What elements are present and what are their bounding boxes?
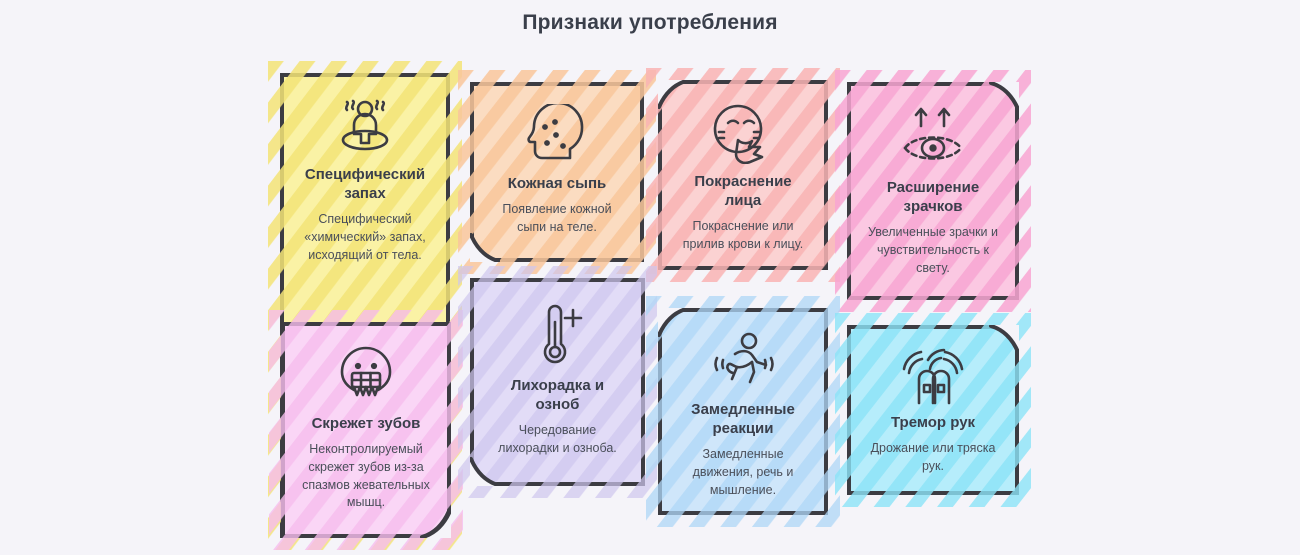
card-description: Неконтролируемый скрежет зубов из-за спа… [298,441,434,512]
running-person-icon [705,330,781,392]
card-description: Замедленные движения, речь и мышление. [675,446,811,499]
card-dilated-pupils[interactable]: Расширение зрачков Увеличенные зрачки и … [847,82,1019,300]
card-hand-tremor[interactable]: Тремор рук Дрожание или тряска рук. [847,325,1019,495]
card-facial-redness[interactable]: Покраснение лица Покраснение или прилив … [658,80,828,270]
trembling-hands-icon [900,347,966,405]
card-title: Расширение зрачков [864,178,1002,216]
card-description: Появление кожной сыпи на теле. [487,201,627,237]
card-title: Специфический запах [297,165,433,203]
card-skin-rash[interactable]: Кожная сыпь Появление кожной сыпи на тел… [470,82,644,262]
head-rash-icon [525,104,589,166]
card-title: Скрежет зубов [312,414,421,433]
card-title: Покраснение лица [675,172,811,210]
card-teeth-grinding[interactable]: Скрежет зубов Неконтролируемый скрежет з… [281,322,451,538]
flushed-face-icon [708,102,778,164]
card-description: Дрожание или тряска рук. [864,440,1002,476]
card-description: Увеличенные зрачки и чувствительность к … [864,224,1002,277]
card-title: Тремор рук [891,413,975,432]
card-description: Чередование лихорадки и озноба. [487,422,628,458]
card-description: Специфический «химический» запах, исходя… [297,211,433,264]
body-odor-icon [328,95,402,157]
card-title: Кожная сыпь [508,174,607,193]
dilated-eye-icon [899,104,967,170]
card-slowed-reactions[interactable]: Замедленные реакции Замедленные движения… [658,308,828,515]
card-description: Покраснение или прилив крови к лицу. [675,218,811,254]
signs-card-board: Специфический запах Специфический «химич… [0,0,1300,546]
thermometer-icon [527,300,589,368]
card-title: Замедленные реакции [675,400,811,438]
grinding-teeth-icon [334,344,398,406]
card-fever-chills[interactable]: Лихорадка и озноб Чередование лихорадки … [470,278,645,486]
card-title: Лихорадка и озноб [487,376,628,414]
